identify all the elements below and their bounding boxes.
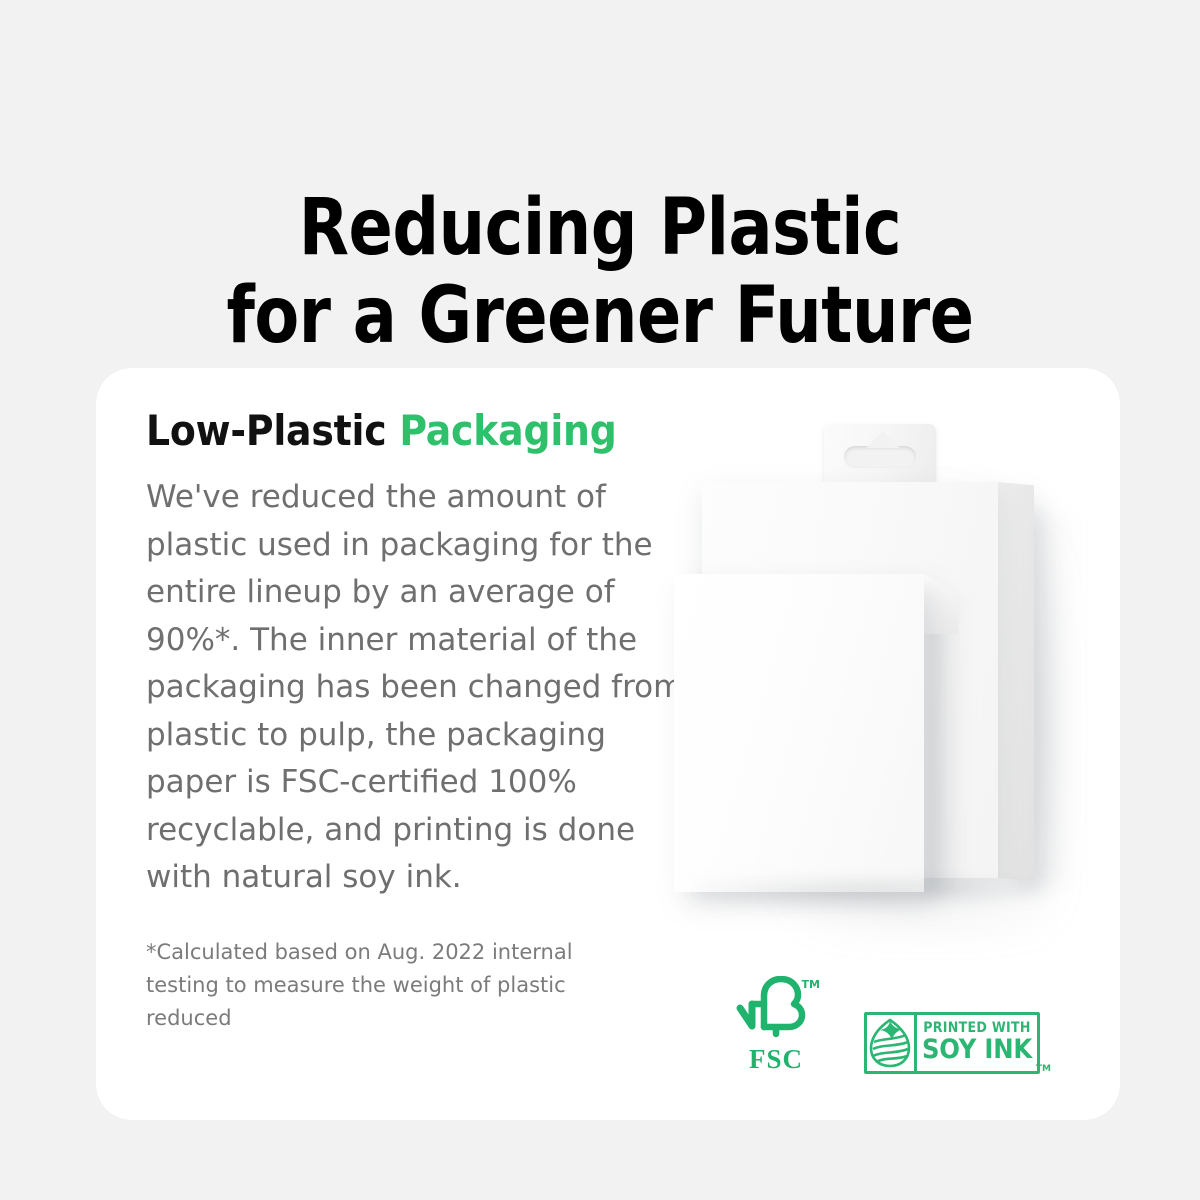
card-heading: Low-Plastic Packaging [146, 406, 706, 456]
page-title-line-2: for a Greener Future [42, 272, 1158, 360]
product-sleeve [674, 574, 924, 892]
body-paragraph: We've reduced the amount of plastic used… [146, 474, 691, 902]
soy-bean-leaf-icon [869, 1018, 911, 1068]
soy-bean-icon-wrap [867, 1015, 917, 1071]
soy-ink-trademark-icon: TM [1036, 1064, 1051, 1074]
hang-tab [824, 424, 936, 490]
card-heading-accent: Packaging [399, 406, 616, 455]
page-title-line-1: Reducing Plastic [42, 184, 1158, 272]
soy-ink-text: PRINTED WITH SOY INK [917, 1015, 1037, 1071]
soy-ink-line-2: SOY INK [922, 1036, 1032, 1064]
page-title: Reducing Plastic for a Greener Future [42, 184, 1158, 360]
sleeve-cast-shadow [924, 594, 970, 894]
soy-ink-logo: PRINTED WITH SOY INK TM [864, 1012, 1040, 1074]
box-side-face [998, 482, 1034, 881]
packaging-floor-shadow [696, 880, 1046, 906]
packaging-illustration [696, 418, 1096, 958]
copy-column: Low-Plastic Packaging We've reduced the … [146, 406, 706, 1056]
certification-logos: TM FSC [730, 976, 1040, 1074]
fsc-trademark-icon: TM [802, 978, 820, 991]
card-heading-primary: Low-Plastic [146, 406, 399, 455]
footnote-text: *Calculated based on Aug. 2022 internal … [146, 936, 616, 1035]
fsc-logo: TM FSC [730, 976, 822, 1074]
fsc-label: FSC [730, 1044, 822, 1074]
hang-tab-hole-peak [866, 431, 900, 448]
content-card: Low-Plastic Packaging We've reduced the … [96, 368, 1120, 1120]
page-root: Reducing Plastic for a Greener Future Lo… [0, 0, 1200, 1200]
hang-tab-hole [844, 446, 916, 468]
